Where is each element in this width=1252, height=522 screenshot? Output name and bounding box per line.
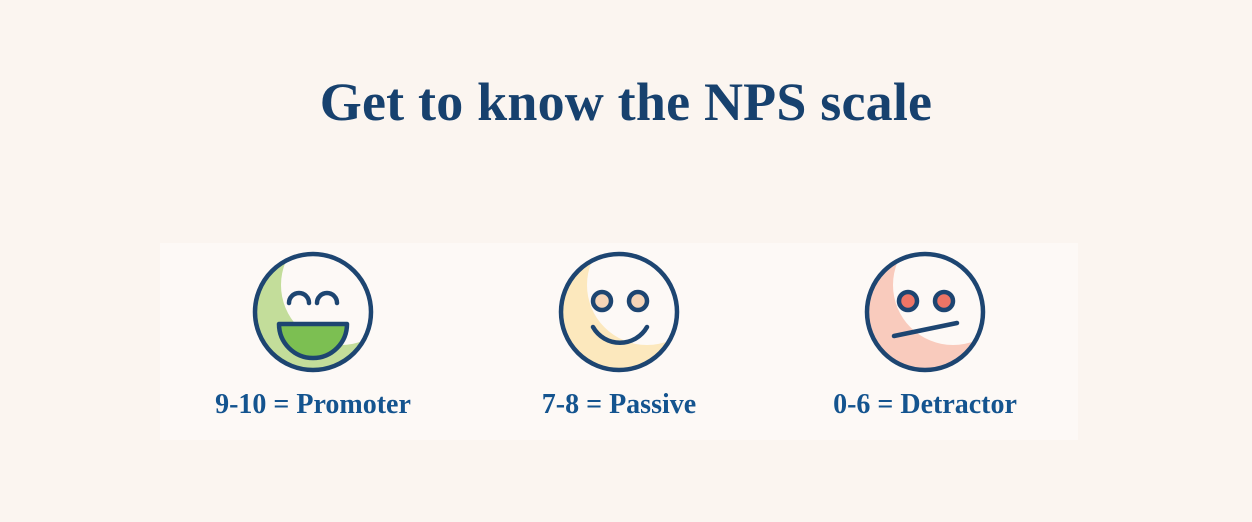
passive-left-eye xyxy=(593,292,611,310)
scale-card-detractor: 0-6 = Detractor xyxy=(772,243,1078,440)
smiley-sad-face-icon xyxy=(860,247,990,377)
detractor-right-eye xyxy=(935,292,953,310)
smiley-neutral-face-icon xyxy=(554,247,684,377)
passive-face-wrap xyxy=(554,247,684,377)
scale-label-promoter: 9-10 = Promoter xyxy=(215,388,411,422)
smiley-happy-face-icon xyxy=(248,247,378,377)
passive-crescent xyxy=(554,247,684,377)
scale-label-detractor: 0-6 = Detractor xyxy=(833,388,1017,422)
scale-card-passive: 7-8 = Passive xyxy=(466,243,772,440)
detractor-crescent xyxy=(860,247,990,377)
scale-label-passive: 7-8 = Passive xyxy=(542,388,696,422)
detractor-left-eye xyxy=(899,292,917,310)
scale-card-promoter: 9-10 = Promoter xyxy=(160,243,466,440)
nps-scale-row: 9-10 = Promoter xyxy=(160,243,1078,440)
passive-right-eye xyxy=(629,292,647,310)
nps-scale-infographic: Get to know the NPS scale xyxy=(0,0,1252,522)
promoter-face-wrap xyxy=(248,247,378,377)
detractor-face-wrap xyxy=(860,247,990,377)
page-title: Get to know the NPS scale xyxy=(0,66,1252,138)
